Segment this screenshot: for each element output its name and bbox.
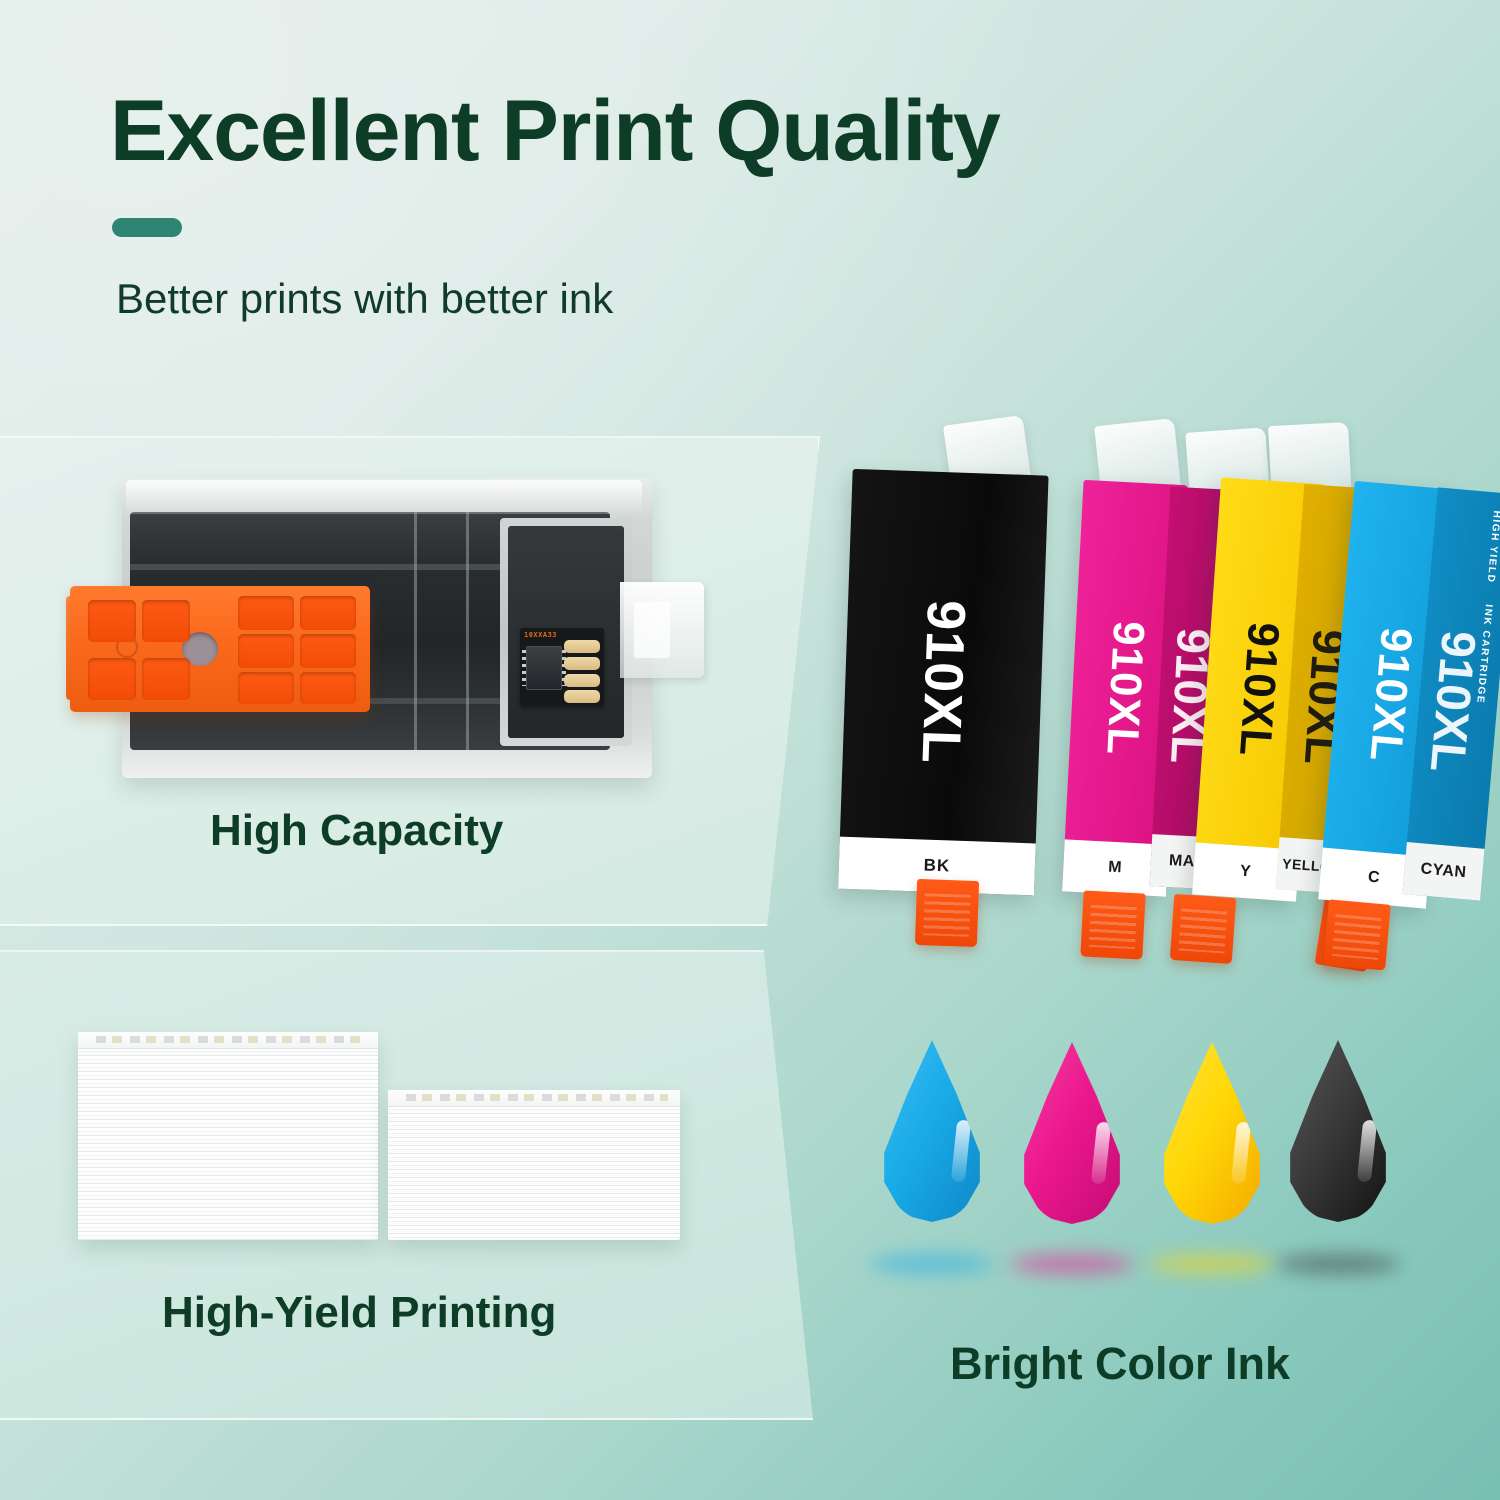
orange-protective-clip [70, 586, 370, 712]
paper-stack-top [78, 1032, 378, 1049]
caption-high-yield: High-Yield Printing [162, 1288, 556, 1338]
clip-cell [300, 634, 356, 668]
clip-cell [300, 672, 356, 704]
chip-ic [526, 646, 562, 690]
clip-cell [142, 658, 190, 700]
cartridge-photo: 10XXA33 [122, 478, 702, 790]
clip-cell [238, 634, 294, 668]
clip-cell [88, 600, 136, 642]
shell-seam [466, 512, 469, 750]
cartridge-meta-line2: HIGH YIELD [1485, 510, 1500, 584]
paper-stack-small [388, 1090, 680, 1240]
cartridge-model: 910XL [1360, 626, 1422, 764]
ink-drop-magenta [1020, 1042, 1124, 1224]
drop-gloss [1231, 1122, 1251, 1185]
drop-shadow-yellow [1150, 1254, 1274, 1274]
clip-cell [88, 658, 136, 700]
chip-contact-pad [564, 657, 600, 670]
drop-shadow-black [1276, 1254, 1400, 1274]
smart-chip: 10XXA33 [520, 628, 604, 706]
cartridge-bk: 910XL BK [838, 469, 1049, 896]
drop-shadow-cyan [870, 1254, 994, 1274]
cartridge-pull-tab [1080, 890, 1145, 959]
chip-contact-pad [564, 640, 600, 653]
cartridge-pull-tab [1323, 899, 1391, 970]
cartridge-group: 910XL BK 910XL M 910XL MA 910XL Y 910XL … [820, 410, 1440, 1010]
paper-stack-top [388, 1090, 680, 1107]
ink-drop-group [868, 1040, 1398, 1270]
cartridge-pull-tab [1170, 894, 1236, 964]
clip-cell [300, 596, 356, 630]
page-subtitle: Better prints with better ink [116, 275, 613, 323]
clip-cell [142, 600, 190, 642]
clear-pull-tab [620, 582, 704, 678]
ink-drop-yellow [1160, 1042, 1264, 1224]
drop-gloss [1357, 1120, 1377, 1183]
cartridge-model: 910XL [1229, 621, 1288, 759]
drop-shadow-magenta [1010, 1254, 1134, 1274]
cartridge-pull-tab [915, 879, 979, 947]
ink-drop-cyan [880, 1040, 984, 1222]
chip-code-label: 10XXA33 [524, 631, 557, 639]
caption-high-capacity: High Capacity [210, 806, 503, 856]
drop-gloss [1091, 1122, 1111, 1185]
chip-contact-pad [564, 690, 600, 703]
cartridge-model: 910XL [1096, 620, 1153, 757]
cartridge-color-name: CYAN [1402, 842, 1484, 901]
clip-cell [238, 596, 294, 630]
drop-gloss [951, 1120, 971, 1183]
paper-stack-large [78, 1032, 378, 1240]
shell-gloss [126, 480, 642, 514]
cartridge-face: 910XL [838, 469, 1049, 896]
accent-bar [112, 218, 182, 237]
page-title: Excellent Print Quality [110, 88, 1000, 174]
chip-contact-pad [564, 674, 600, 687]
cartridge-model: 910XL [909, 599, 977, 765]
caption-bright-color-ink: Bright Color Ink [950, 1338, 1290, 1390]
product-feature-graphic: Excellent Print Quality Better prints wi… [0, 0, 1500, 1500]
clip-cell [238, 672, 294, 704]
shell-seam [414, 512, 417, 750]
ink-drop-black [1286, 1040, 1390, 1222]
